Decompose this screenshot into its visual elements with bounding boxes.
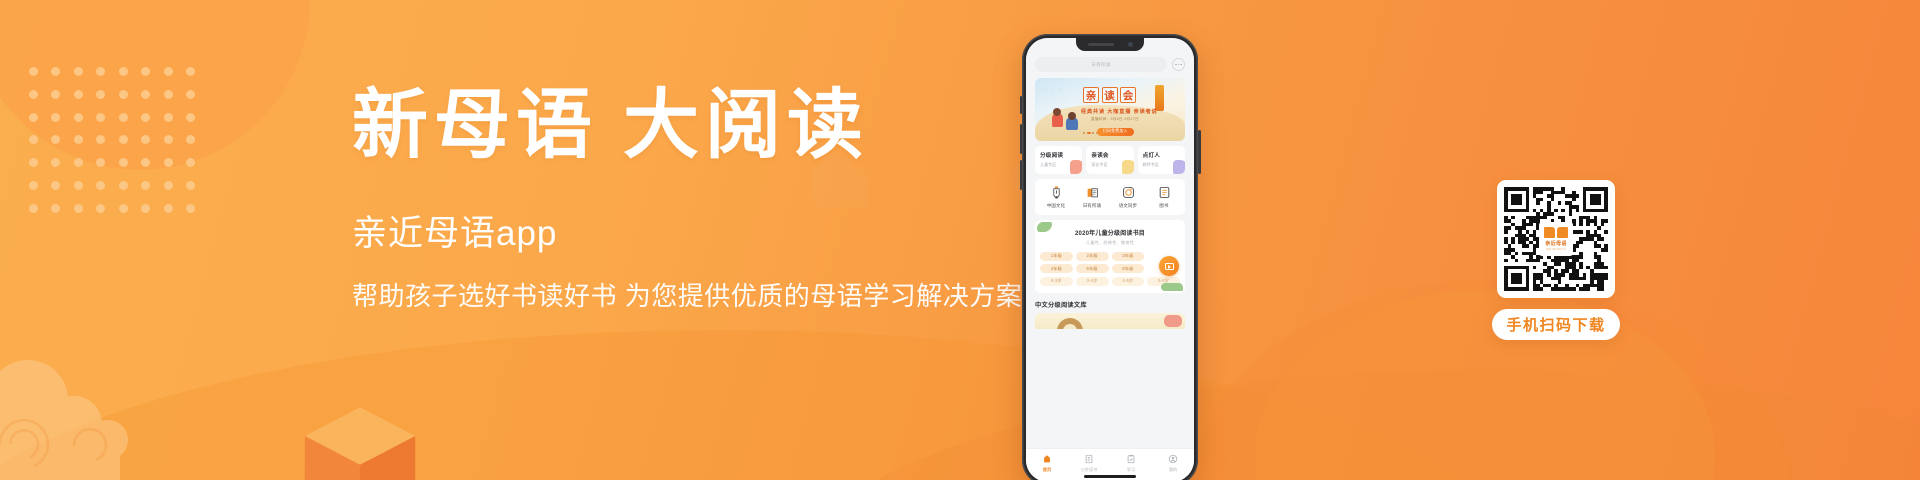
- tab-reading[interactable]: 小步读书: [1068, 453, 1110, 473]
- hero-subtitle: 经典共读 大咖直播 亲读者说: [1081, 108, 1158, 115]
- birds-icon: · · ·: [1045, 87, 1063, 93]
- phone-mockup: 日有所诵 · · · 亲 读 会: [1022, 34, 1198, 480]
- clipboard-icon: [1126, 453, 1137, 464]
- qr-code-card: 亲近母语 QINJIN MUYU: [1497, 180, 1615, 298]
- qr-code-image: 亲近母语 QINJIN MUYU: [1504, 187, 1608, 291]
- phone-volume-down-button: [1020, 160, 1023, 190]
- phone-screen: 日有所诵 · · · 亲 读 会: [1026, 38, 1194, 480]
- quick-access-daily-recite[interactable]: 日有所诵: [1074, 186, 1110, 210]
- grade-chip[interactable]: 4年级: [1040, 264, 1073, 273]
- child-figure-red: [1052, 113, 1063, 127]
- tab-label: 首页: [1043, 467, 1051, 473]
- age-chip[interactable]: 0-3岁: [1040, 277, 1073, 286]
- more-dots-icon[interactable]: [1172, 58, 1185, 71]
- hero-pager[interactable]: [1083, 132, 1098, 134]
- hero-cta-button[interactable]: 扫码免费加入: [1097, 128, 1134, 136]
- home-icon: [1042, 453, 1053, 464]
- phone-mute-button: [1020, 96, 1023, 114]
- hero-title: 亲 读 会: [1083, 87, 1136, 103]
- icon-label: 图书: [1159, 203, 1168, 209]
- tab-home[interactable]: 首页: [1026, 453, 1068, 473]
- card-decoration-icon: [1173, 160, 1185, 174]
- library-card[interactable]: [1035, 313, 1185, 329]
- circle-decoration-top-left: [0, 0, 310, 170]
- icon-label: 日有所诵: [1083, 203, 1101, 209]
- grade-chip[interactable]: 5年级: [1076, 264, 1109, 273]
- category-cards: 分级阅读 儿童专区 亲读会 家长专区 点灯人 教师专区: [1035, 146, 1185, 174]
- phone-volume-up-button: [1020, 124, 1023, 154]
- card-title: 点灯人: [1143, 151, 1180, 159]
- qr-download-block: 亲近母语 QINJIN MUYU 手机扫码下载: [1466, 180, 1646, 340]
- video-play-icon[interactable]: [1159, 256, 1179, 276]
- tab-label: 小步读书: [1081, 467, 1097, 473]
- icon-label: 语文同步: [1119, 203, 1137, 209]
- logo-title: 亲近母语: [1545, 240, 1567, 247]
- leaf-decoration-bottom-right: [1161, 283, 1183, 291]
- tab-label: 学习: [1127, 467, 1135, 473]
- lantern-icon: [1049, 186, 1063, 200]
- card-title: 亲读会: [1091, 151, 1128, 159]
- category-card-teacher[interactable]: 点灯人 教师专区: [1138, 146, 1185, 174]
- card-title: 分级阅读: [1040, 151, 1077, 159]
- icon-label: 中国文化: [1047, 203, 1065, 209]
- open-book-icon: [1085, 186, 1099, 200]
- booklist-subtitle: 儿童性、经典性、教育性: [1040, 240, 1180, 246]
- grade-chip[interactable]: 3年级: [1112, 252, 1145, 261]
- library-book-decoration: [1164, 315, 1182, 327]
- quick-access-textbook-sync[interactable]: 语文同步: [1110, 186, 1146, 210]
- sync-icon: [1121, 186, 1135, 200]
- tab-profile[interactable]: 我的: [1152, 453, 1194, 473]
- hero-title-char-3: 会: [1120, 87, 1136, 103]
- card-decoration-icon: [1122, 160, 1134, 174]
- booklist-module: 2020年儿童分级阅读书目 儿童性、经典性、教育性 1年级 2年级 3年级 4年…: [1035, 220, 1185, 293]
- grade-chip[interactable]: 2年级: [1076, 252, 1109, 261]
- promo-banner: 新母语 大阅读 亲近母语app 帮助孩子选好书读好书 为您提供优质的母语学习解决…: [0, 0, 1920, 480]
- quick-access-icon-row: 中国文化 日有所诵: [1035, 179, 1185, 216]
- quick-access-books[interactable]: 图书: [1146, 186, 1182, 210]
- home-indicator: [1084, 475, 1136, 478]
- search-placeholder: 日有所诵: [1091, 62, 1111, 68]
- quick-access-chinese-culture[interactable]: 中国文化: [1038, 186, 1074, 210]
- category-card-parent-club[interactable]: 亲读会 家长专区: [1086, 146, 1133, 174]
- tab-study[interactable]: 学习: [1110, 453, 1152, 473]
- age-chip[interactable]: 4-5岁: [1112, 277, 1145, 286]
- card-decoration-icon: [1070, 160, 1082, 174]
- grade-chip[interactable]: 1年级: [1040, 252, 1073, 261]
- brand-logo: 亲近母语 QINJIN MUYU: [1539, 222, 1573, 256]
- phone-power-button: [1198, 130, 1201, 174]
- app-name: 亲近母语app: [352, 216, 1072, 251]
- tab-label: 我的: [1169, 467, 1177, 473]
- user-icon: [1168, 453, 1179, 464]
- banner-copy: 新母语 大阅读 亲近母语app 帮助孩子选好书读好书 为您提供优质的母语学习解决…: [352, 88, 1072, 309]
- download-button[interactable]: 手机扫码下载: [1492, 309, 1620, 340]
- banner-tagline: 帮助孩子选好书读好书 为您提供优质的母语学习解决方案: [352, 283, 1072, 309]
- booklist-title: 2020年儿童分级阅读书目: [1040, 228, 1180, 237]
- page-title: 新母语 大阅读: [352, 88, 1072, 164]
- grade-chip[interactable]: 6年级: [1112, 264, 1145, 273]
- search-input[interactable]: 日有所诵: [1035, 57, 1167, 72]
- category-card-graded-reading[interactable]: 分级阅读 儿童专区: [1035, 146, 1082, 174]
- app-home-screen: 日有所诵 · · · 亲 读 会: [1026, 38, 1194, 480]
- book-logo-icon: [1544, 227, 1568, 238]
- reading-icon: [1084, 453, 1095, 464]
- dot-grid-pattern: [22, 60, 202, 220]
- age-chip[interactable]: 3-4岁: [1076, 277, 1109, 286]
- hero-title-char-1: 亲: [1083, 87, 1099, 103]
- child-figure-blue: [1066, 117, 1078, 130]
- search-row: 日有所诵: [1035, 57, 1185, 72]
- arc-decoration-bottom: [0, 330, 1520, 480]
- hero-date: 直播时间：9月6日-9月27日: [1091, 117, 1139, 122]
- app-hero-banner[interactable]: · · · 亲 读 会 经典共读 大咖直播 亲读者说 直播时间：9月6日-9月2…: [1035, 78, 1185, 141]
- logo-subtitle: QINJIN MUYU: [1546, 248, 1566, 251]
- hero-title-char-2: 读: [1102, 87, 1118, 103]
- auspicious-cloud-icon: [0, 348, 170, 480]
- cube-icon: [300, 400, 420, 480]
- book-icon: [1157, 186, 1171, 200]
- library-title: 中文分级阅读文库: [1035, 300, 1185, 309]
- phone-notch: [1076, 38, 1144, 51]
- arc-decoration-bottom-right: [770, 370, 1920, 480]
